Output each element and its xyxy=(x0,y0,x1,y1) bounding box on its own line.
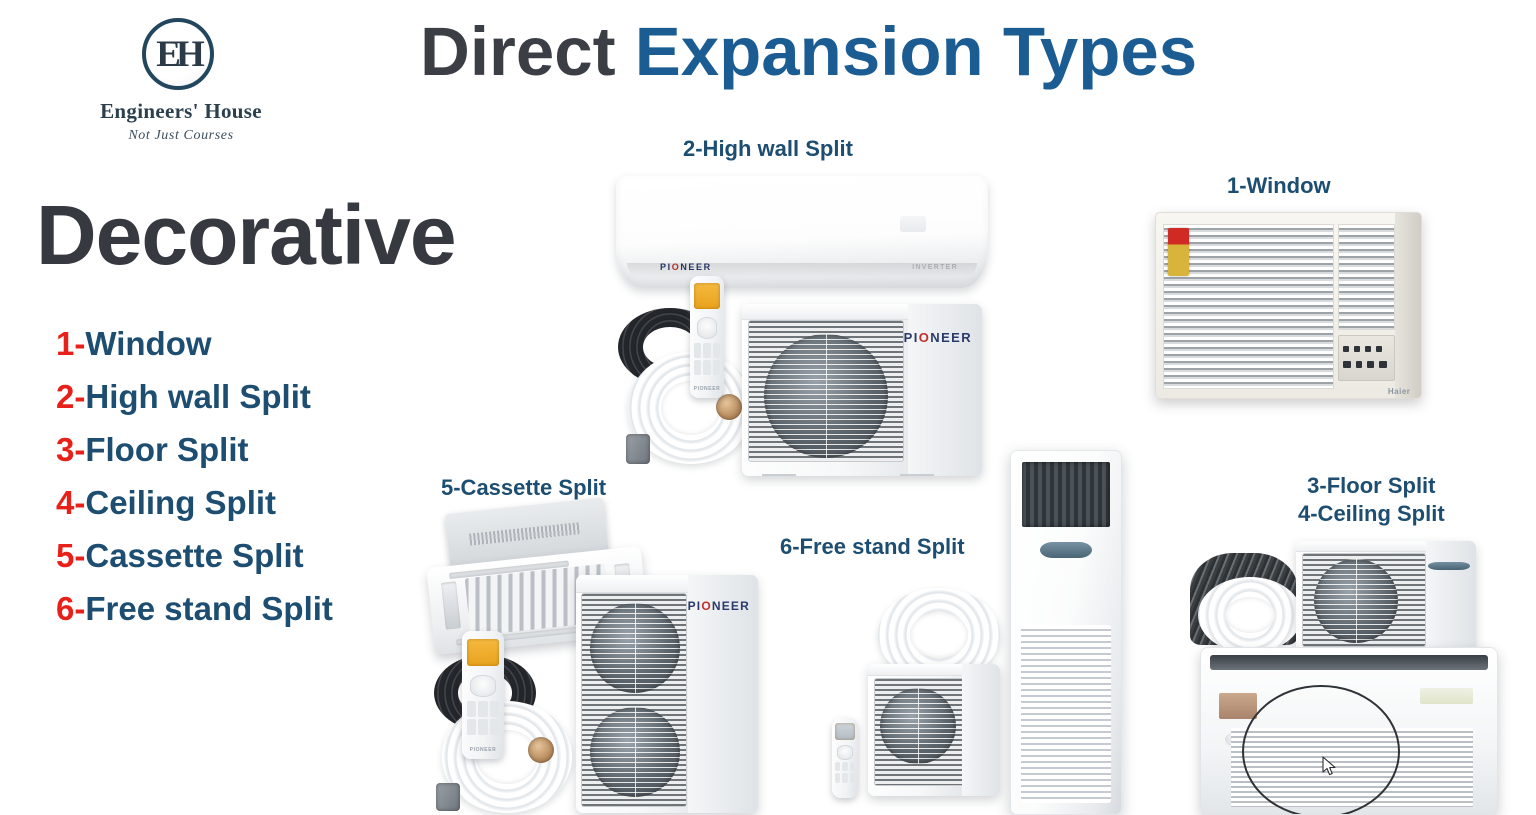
remote-brand-label: PIONEER xyxy=(690,386,724,392)
list-item-label: Floor Split xyxy=(85,431,248,468)
list-item-dash: - xyxy=(74,325,85,362)
list-item-label: High wall Split xyxy=(85,378,311,415)
list-item-number: 1 xyxy=(56,325,74,362)
list-item-dash: - xyxy=(74,431,85,468)
remote-button-grid[interactable] xyxy=(835,762,855,783)
ceiling-floor-indoor-unit xyxy=(1200,647,1498,815)
tower-display-badge xyxy=(1040,542,1093,558)
condenser-fan-icon xyxy=(590,707,680,797)
remote-lcd-display xyxy=(467,639,498,666)
list-item: 3-Floor Split xyxy=(56,433,446,466)
cassette-outdoor-condenser: PIONEER xyxy=(576,575,758,813)
indoor-wall-unit: PIONEER INVERTER xyxy=(616,176,988,288)
tower-top-grille xyxy=(1022,462,1110,527)
list-item-label: Free stand Split xyxy=(85,590,333,627)
label-cassette-split: 5-Cassette Split xyxy=(441,474,606,502)
list-item-label: Window xyxy=(85,325,211,362)
logo-company-name: Engineers' House xyxy=(66,99,296,124)
remote-control[interactable]: PIONEER xyxy=(690,276,724,398)
list-item-number: 5 xyxy=(56,537,74,574)
condenser-foot xyxy=(762,474,796,476)
list-item: 1-Window xyxy=(56,327,446,360)
window-ac-right-edge xyxy=(1395,213,1422,398)
condenser-side-panel xyxy=(962,664,1000,796)
brand-inverter-badge: INVERTER xyxy=(912,264,958,271)
drain-cap-icon xyxy=(626,434,650,464)
list-item-dash: - xyxy=(74,484,85,521)
title-word-expansion-types: Expansion Types xyxy=(635,13,1197,90)
section-heading-decorative: Decorative xyxy=(36,193,456,277)
floor-standing-indoor-tower xyxy=(1010,450,1122,815)
window-ac-unit: Haier xyxy=(1155,212,1422,399)
window-ac-side-louvers xyxy=(1338,224,1396,330)
brand-pioneer-outdoor: PIONEER xyxy=(904,330,972,345)
label-floor-split: 3-Floor Split xyxy=(1298,472,1445,500)
photo-cassette-split: PIONEER PIONEER xyxy=(428,505,758,813)
brand-haier: Haier xyxy=(1388,387,1411,396)
drain-cap-icon xyxy=(436,783,460,811)
list-item-dash: - xyxy=(74,590,85,627)
list-item-number: 2 xyxy=(56,378,74,415)
list-item: 2-High wall Split xyxy=(56,380,446,413)
remote-control[interactable]: PIONEER xyxy=(462,631,504,759)
display-window-icon xyxy=(900,216,926,232)
photo-free-stand-split xyxy=(832,450,1122,813)
label-ceiling-split: 4-Ceiling Split xyxy=(1298,500,1445,528)
photo-floor-ceiling-split xyxy=(1190,535,1520,813)
list-item: 4-Ceiling Split xyxy=(56,486,446,519)
brand-pioneer-indoor: PIONEER xyxy=(660,262,712,272)
list-item-label: Cassette Split xyxy=(85,537,303,574)
floor-split-outdoor-condenser xyxy=(1296,541,1476,655)
remote-lcd-display xyxy=(835,723,854,740)
list-item-number: 3 xyxy=(56,431,74,468)
list-item: 5-Cassette Split xyxy=(56,539,446,572)
condenser-brand-badge xyxy=(1428,562,1470,570)
photo-high-wall-split: PIONEER INVERTER PIONEER PIONEER xyxy=(612,176,988,476)
indoor-display-panel xyxy=(1219,693,1257,720)
remote-button-grid[interactable] xyxy=(694,343,720,375)
window-ac-control-panel[interactable] xyxy=(1338,335,1396,381)
cassette-vane xyxy=(441,581,461,629)
energy-rating-sticker xyxy=(1168,228,1189,276)
copper-flare-icon xyxy=(716,394,742,420)
label-window: 1-Window xyxy=(1227,172,1331,200)
line-set-coil xyxy=(1198,577,1302,653)
label-high-wall-split: 2-High wall Split xyxy=(683,135,853,163)
list-item: 6-Free stand Split xyxy=(56,592,446,625)
copper-flare-icon xyxy=(528,737,554,763)
remote-brand-label: PIONEER xyxy=(462,747,504,753)
condenser-side-panel xyxy=(1426,541,1476,655)
condenser-fan-icon xyxy=(1314,559,1398,643)
remote-button-grid[interactable] xyxy=(467,701,499,734)
remote-dpad[interactable] xyxy=(837,745,853,760)
logo-tagline: Not Just Courses xyxy=(66,128,296,144)
condenser-fan-icon xyxy=(880,688,956,764)
logo-initials: EH xyxy=(142,18,214,90)
remote-dpad[interactable] xyxy=(697,317,717,339)
title-word-direct: Direct xyxy=(420,13,635,90)
supply-air-slot xyxy=(1210,655,1488,670)
remote-control[interactable] xyxy=(832,718,858,798)
logo-monogram-icon: EH xyxy=(142,18,220,96)
slide-canvas: EH Engineers' House Not Just Courses Dir… xyxy=(0,0,1536,813)
types-list: 1-Window 2-High wall Split 3-Floor Split… xyxy=(56,327,446,645)
label-floor-ceiling-split: 3-Floor Split 4-Ceiling Split xyxy=(1298,472,1445,527)
annotation-circle xyxy=(1242,685,1400,815)
condenser-fan-icon xyxy=(764,334,888,458)
remote-dpad[interactable] xyxy=(470,675,495,697)
brand-pioneer-outdoor: PIONEER xyxy=(688,599,750,613)
tower-louver-section xyxy=(1021,625,1111,803)
indoor-spec-label xyxy=(1420,688,1473,705)
list-item-number: 6 xyxy=(56,590,74,627)
list-item-label: Ceiling Split xyxy=(85,484,276,521)
free-stand-outdoor-condenser xyxy=(868,664,1000,796)
list-item-dash: - xyxy=(74,378,85,415)
list-item-dash: - xyxy=(74,537,85,574)
remote-lcd-display xyxy=(694,283,719,309)
condenser-fan-icon xyxy=(590,603,680,693)
page-title: Direct Expansion Types xyxy=(420,16,1180,88)
list-item-number: 4 xyxy=(56,484,74,521)
photo-window-ac: Haier xyxy=(1155,212,1420,412)
brand-logo: EH Engineers' House Not Just Courses xyxy=(66,18,296,158)
